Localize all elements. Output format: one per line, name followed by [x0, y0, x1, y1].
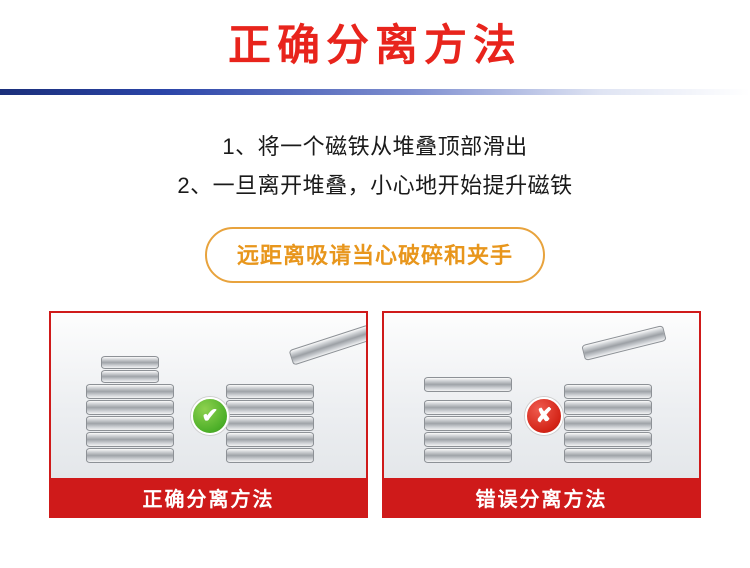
magnet-disc	[226, 448, 314, 463]
panel-correct-caption: 正确分离方法	[51, 478, 366, 516]
magnet-disc	[424, 448, 512, 463]
status-badge-correct: ✔	[191, 397, 229, 435]
panel-correct: ✔ 正确分离方法	[49, 311, 368, 518]
magnet-disc	[564, 400, 652, 415]
warning-text: 远距离吸请当心破碎和夹手	[205, 227, 545, 283]
magnet-stack-left	[86, 356, 174, 464]
magnet-disc-lifted	[424, 377, 512, 392]
magnet-disc	[226, 432, 314, 447]
magnet-disc	[564, 416, 652, 431]
panel-wrong-caption: 错误分离方法	[384, 478, 699, 516]
instruction-line-1: 1、将一个磁铁从堆叠顶部滑出	[0, 128, 750, 167]
panel-correct-figure: ✔	[51, 313, 366, 478]
magnet-stack-right	[564, 384, 652, 464]
magnet-disc	[564, 432, 652, 447]
magnet-stack-left	[424, 377, 512, 464]
magnet-disc	[424, 416, 512, 431]
page-root: 正确分离方法 1、将一个磁铁从堆叠顶部滑出 2、一旦离开堆叠，小心地开始提升磁铁…	[0, 0, 750, 568]
magnet-disc	[424, 400, 512, 415]
magnet-disc	[424, 432, 512, 447]
magnet-disc	[86, 384, 174, 399]
magnet-disc	[226, 416, 314, 431]
panel-wrong: ✘ 错误分离方法	[382, 311, 701, 518]
magnet-disc	[564, 448, 652, 463]
sliding-magnet	[289, 324, 366, 365]
magnet-disc	[86, 432, 174, 447]
panel-wrong-figure: ✘	[384, 313, 699, 478]
magnet-stack-right	[226, 384, 314, 464]
instruction-list: 1、将一个磁铁从堆叠顶部滑出 2、一旦离开堆叠，小心地开始提升磁铁	[0, 128, 750, 205]
lifted-magnet	[581, 325, 666, 361]
comparison-panels: ✔ 正确分离方法	[0, 311, 750, 518]
magnet-disc	[226, 400, 314, 415]
header: 正确分离方法	[0, 0, 750, 100]
magnet-disc	[101, 370, 159, 383]
magnet-disc	[226, 384, 314, 399]
warning-banner: 远距离吸请当心破碎和夹手	[0, 227, 750, 283]
magnet-disc	[101, 356, 159, 369]
magnet-disc	[564, 384, 652, 399]
header-divider	[0, 89, 750, 95]
status-badge-wrong: ✘	[525, 397, 563, 435]
page-title: 正确分离方法	[228, 25, 522, 76]
instruction-line-2: 2、一旦离开堆叠，小心地开始提升磁铁	[0, 167, 750, 206]
magnet-disc	[86, 400, 174, 415]
magnet-disc	[86, 448, 174, 463]
magnet-disc	[86, 416, 174, 431]
